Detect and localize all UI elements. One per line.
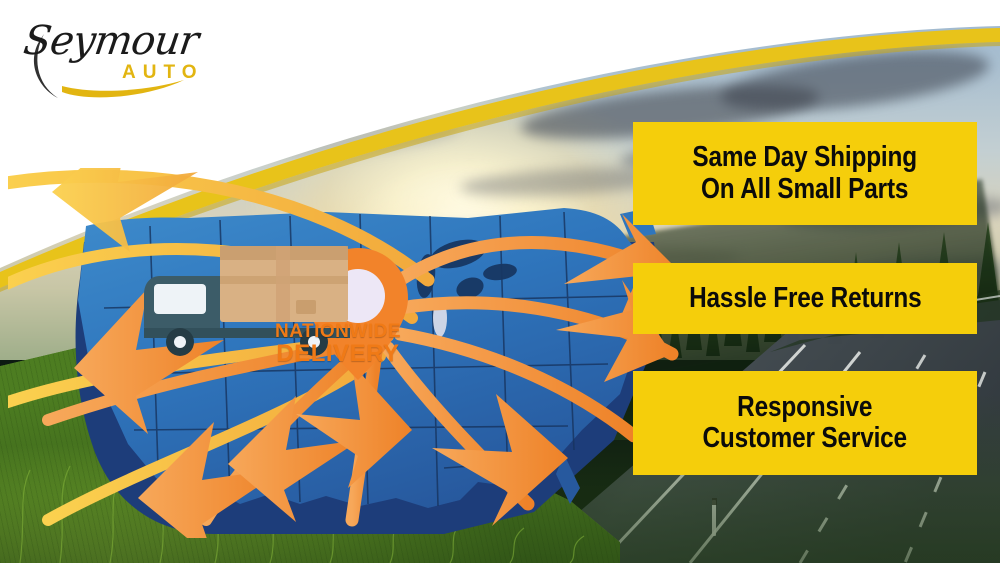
delivery-line: DELIVERY <box>258 342 418 367</box>
logo-swoosh-icon <box>18 14 208 106</box>
callout-same-day-shipping[interactable]: Same Day Shipping On All Small Parts <box>633 122 977 225</box>
seymour-auto-logo[interactable]: Seymour AUTO <box>18 14 208 106</box>
callout-hassle-free-returns[interactable]: Hassle Free Returns <box>633 263 977 334</box>
callout-text: Responsive Customer Service <box>703 392 907 455</box>
promo-banner: NATIONWIDE DELIVERY Same Day Shipping On… <box>0 0 1000 563</box>
callout-text: Hassle Free Returns <box>689 283 921 314</box>
callout-text: Same Day Shipping On All Small Parts <box>693 142 918 205</box>
nationwide-line: NATIONWIDE <box>258 322 418 342</box>
callout-responsive-customer-service[interactable]: Responsive Customer Service <box>633 371 977 475</box>
nationwide-delivery-label: NATIONWIDE DELIVERY <box>258 322 418 367</box>
